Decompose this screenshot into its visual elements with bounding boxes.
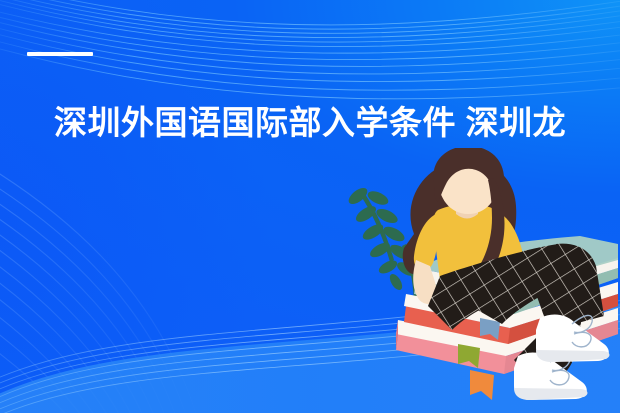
promo-banner: 深圳外国语国际部入学条件 深圳龙 [0, 0, 620, 413]
orange-bookmark [470, 370, 494, 400]
hero-illustration [318, 148, 620, 413]
title-accent-rule [27, 52, 93, 56]
page-title: 深圳外国语国际部入学条件 深圳龙 [54, 100, 574, 146]
